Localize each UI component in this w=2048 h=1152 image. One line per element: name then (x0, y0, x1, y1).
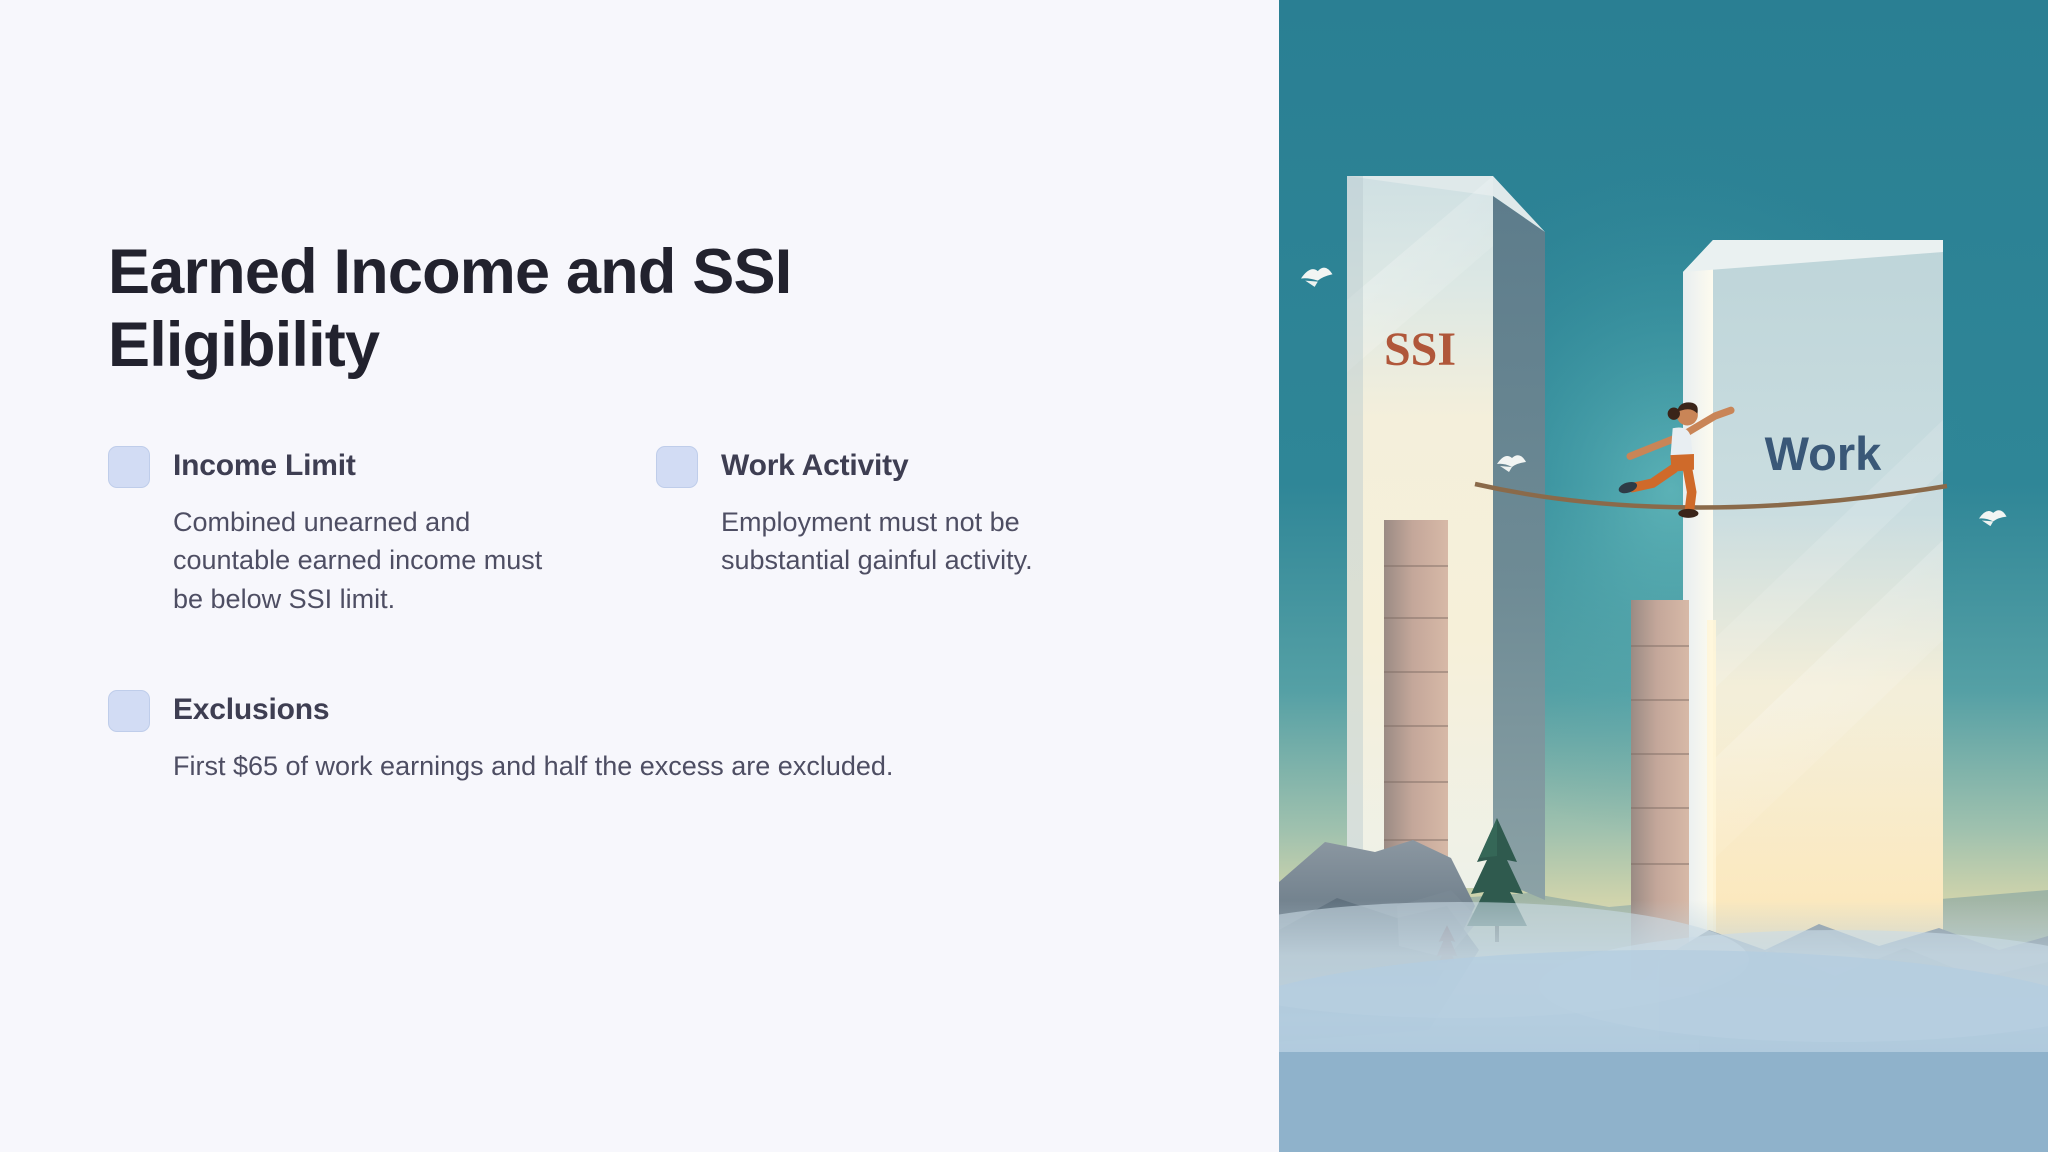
pillar-ssi-side (1493, 196, 1545, 900)
pillar-work-label: Work (1765, 427, 1883, 480)
bullet-square-icon (108, 446, 150, 488)
feature-item-exclusions: Exclusions First $65 of work earnings an… (108, 688, 1204, 785)
feature-item-income-limit: Income Limit Combined unearned and count… (108, 444, 656, 618)
feature-description: Combined unearned and countable earned i… (173, 503, 573, 618)
content-panel: Earned Income and SSI Eligibility Income… (0, 0, 1279, 1152)
walker-hair-bun (1668, 408, 1680, 420)
feature-title: Exclusions (173, 688, 329, 729)
pillar-ssi-label: SSI (1384, 323, 1456, 376)
page-title: Earned Income and SSI Eligibility (108, 236, 1008, 382)
feature-title: Work Activity (721, 444, 908, 485)
feature-header: Work Activity (656, 444, 1164, 488)
feature-list: Income Limit Combined unearned and count… (108, 444, 1188, 785)
pillar-ssi-left-shade (1347, 176, 1363, 888)
fog-base (1279, 1052, 2048, 1152)
feature-header: Exclusions (108, 688, 1164, 732)
feature-item-work-activity: Work Activity Employment must not be sub… (656, 444, 1204, 618)
walker-front-foot (1678, 509, 1698, 518)
bullet-square-icon (656, 446, 698, 488)
content-inner: Earned Income and SSI Eligibility Income… (108, 236, 1188, 785)
feature-header: Income Limit (108, 444, 616, 488)
illustration-panel: SSI (1279, 0, 2048, 1152)
feature-title: Income Limit (173, 444, 356, 485)
pillar-work: Work (1683, 240, 1943, 960)
bullet-square-icon (108, 690, 150, 732)
feature-description: Employment must not be substantial gainf… (721, 503, 1121, 580)
slide-root: Earned Income and SSI Eligibility Income… (0, 0, 2048, 1152)
tightrope-illustration: SSI (1279, 0, 2048, 1152)
feature-description: First $65 of work earnings and half the … (173, 747, 1073, 785)
walker-front-leg (1687, 467, 1691, 510)
